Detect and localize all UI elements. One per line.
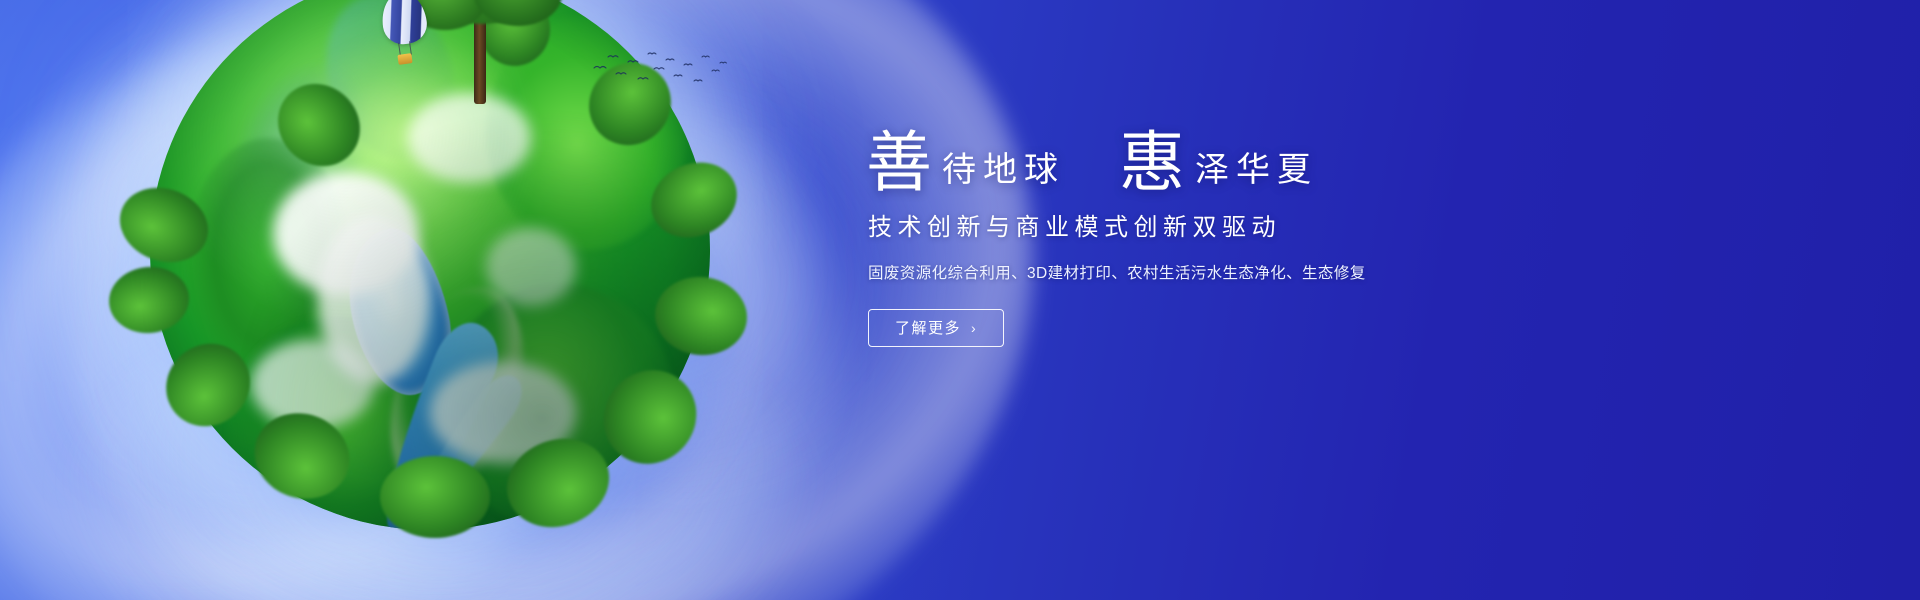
headline-phrase2-rest: 泽华夏 [1195, 153, 1318, 187]
hot-air-balloon-icon [382, 0, 430, 72]
hero-description: 固废资源化综合利用、3D建材打印、农村生活污水生态净化、生态修复 [868, 263, 1562, 285]
hero-content: 善 待地球 惠 泽华夏 技术创新与商业模式创新双驱动 固废资源化综合利用、3D建… [862, 130, 1562, 347]
learn-more-label: 了解更多 [895, 317, 961, 338]
chevron-right-icon: › [971, 321, 977, 335]
balloon-basket [397, 53, 412, 65]
hero-headline: 善 待地球 惠 泽华夏 [866, 130, 1562, 196]
learn-more-button[interactable]: 了解更多 › [868, 309, 1004, 347]
hero-subtitle: 技术创新与商业模式创新双驱动 [868, 212, 1562, 243]
tree-icon [380, 456, 490, 538]
bird-flock-icon [590, 48, 730, 94]
balloon-envelope [379, 0, 430, 47]
headline-phrase1-rest: 待地球 [942, 153, 1065, 187]
hero-banner: 善 待地球 惠 泽华夏 技术创新与商业模式创新双驱动 固废资源化综合利用、3D建… [0, 0, 1920, 600]
headline-phrase1-lead: 善 [866, 130, 932, 196]
headline-phrase2-lead: 惠 [1119, 130, 1185, 196]
